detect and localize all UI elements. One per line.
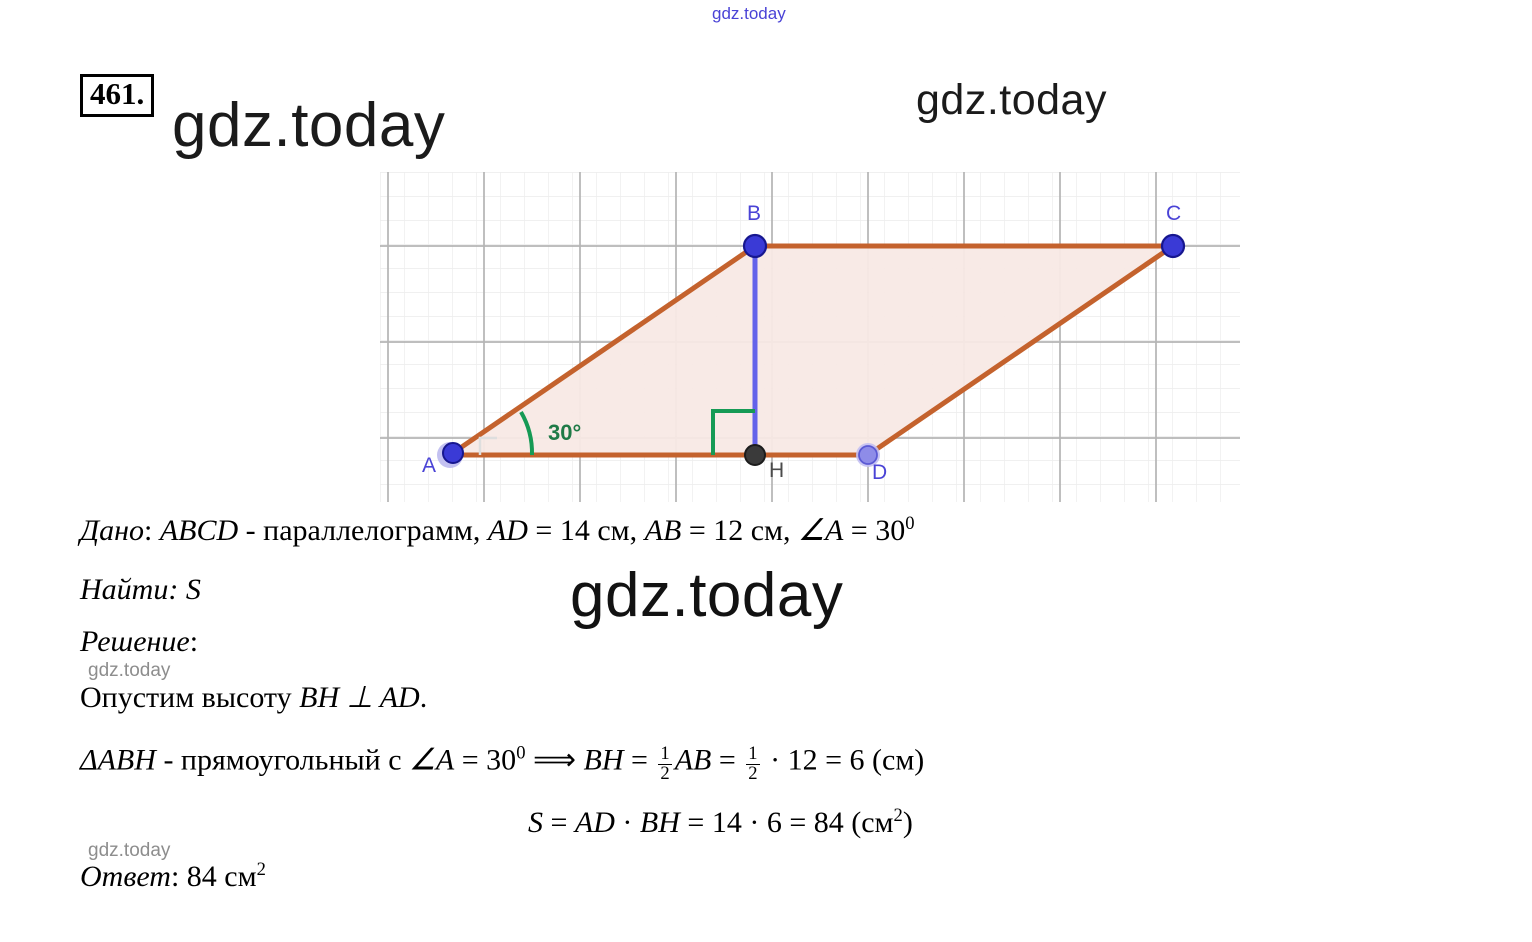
point-B <box>744 235 766 257</box>
area-ad: AD <box>575 806 615 839</box>
point-H <box>745 445 765 465</box>
area-dot: · <box>615 806 640 839</box>
triangle-ab: AB <box>675 743 712 776</box>
given-angle-eq: = 30 <box>843 514 905 547</box>
given-angle: ∠A <box>798 514 843 547</box>
watermark-small-upper: gdz.today <box>88 660 170 682</box>
find-line: Найти: S <box>80 575 201 605</box>
height-expression: BH ⊥ AD <box>299 681 420 714</box>
label-B: B <box>747 202 761 225</box>
fraction-denominator: 2 <box>658 764 671 784</box>
given-ad-eq: = 14 <box>528 514 597 547</box>
point-A <box>443 443 463 463</box>
triangle-implies: ⟹ <box>525 743 583 776</box>
area-unit-exponent: 2 <box>894 805 903 826</box>
given-angle-degree: 0 <box>905 513 914 534</box>
given-colon: : <box>144 514 160 547</box>
given-dash: - параллелограмм, <box>238 514 488 547</box>
area-eq-1: = <box>543 806 575 839</box>
given-figure: ABCD <box>160 514 238 547</box>
area-formula-line: S = AD · BH = 14 · 6 = 84 (см2) <box>528 808 913 838</box>
answer-label: Ответ <box>80 860 171 893</box>
triangle-line: ΔABH - прямоугольный с ∠A = 300 ⟹ BH = 1… <box>80 745 924 784</box>
triangle-unit: (см) <box>872 743 924 776</box>
height-period: . <box>420 681 428 714</box>
triangle-multiply: · 12 = 6 <box>763 743 872 776</box>
given-comma-2: , <box>783 514 798 547</box>
given-ad-name: AD <box>488 514 528 547</box>
area-s: S <box>528 806 543 839</box>
triangle-eq-1: = <box>624 743 656 776</box>
given-comma-1: , <box>630 514 645 547</box>
find-value: : S <box>168 573 201 606</box>
triangle-angle: ∠A <box>409 743 454 776</box>
watermark-center: gdz.today <box>570 560 843 631</box>
fraction-numerator: 1 <box>658 745 671 764</box>
fraction-half-2: 12 <box>746 745 759 784</box>
label-H: H <box>769 459 784 482</box>
answer-value: : 84 см <box>171 860 257 893</box>
area-unit: (см <box>851 806 893 839</box>
solution-heading-line: Решение: <box>80 627 198 657</box>
fraction-numerator: 1 <box>746 745 759 764</box>
given-ab-unit: см <box>751 514 783 547</box>
watermark-small-lower: gdz.today <box>88 840 170 862</box>
fraction-half-1: 12 <box>658 745 671 784</box>
triangle-symbol: ΔABH <box>80 743 156 776</box>
solution-label: Решение <box>80 625 190 658</box>
given-ab-name: AB <box>645 514 682 547</box>
height-text: Опустим высоту <box>80 681 299 714</box>
given-line: Дано: ABCD - параллелограмм, AD = 14 см,… <box>80 516 915 546</box>
area-bh: BH <box>640 806 680 839</box>
answer-exponent: 2 <box>257 859 266 880</box>
watermark-top-small: gdz.today <box>712 4 786 24</box>
given-label: Дано <box>80 514 144 547</box>
angle-label-30: 30° <box>548 420 581 445</box>
problem-number: 461. <box>80 74 154 117</box>
triangle-eq-2: = <box>711 743 743 776</box>
area-eq-2: = 14 · 6 = 84 <box>680 806 851 839</box>
watermark-title-right: gdz.today <box>916 76 1107 125</box>
answer-line: Ответ: 84 см2 <box>80 862 266 892</box>
solution-colon: : <box>190 625 198 658</box>
watermark-title-left: gdz.today <box>172 90 445 161</box>
given-ab-eq: = 12 <box>681 514 750 547</box>
triangle-text: - прямоугольный с <box>156 743 409 776</box>
label-A: A <box>422 454 436 477</box>
point-C <box>1162 235 1184 257</box>
height-construction-line: Опустим высоту BH ⊥ AD. <box>80 683 427 713</box>
area-unit-close: ) <box>903 806 913 839</box>
triangle-angle-eq: = 30 <box>454 743 516 776</box>
label-C: C <box>1166 202 1181 225</box>
fraction-denominator: 2 <box>746 764 759 784</box>
label-D: D <box>872 461 887 484</box>
given-ad-unit: см <box>597 514 629 547</box>
geometry-figure: 30° A B C D H <box>380 172 1240 502</box>
triangle-bh: BH <box>584 743 624 776</box>
find-label: Найти <box>80 573 168 606</box>
